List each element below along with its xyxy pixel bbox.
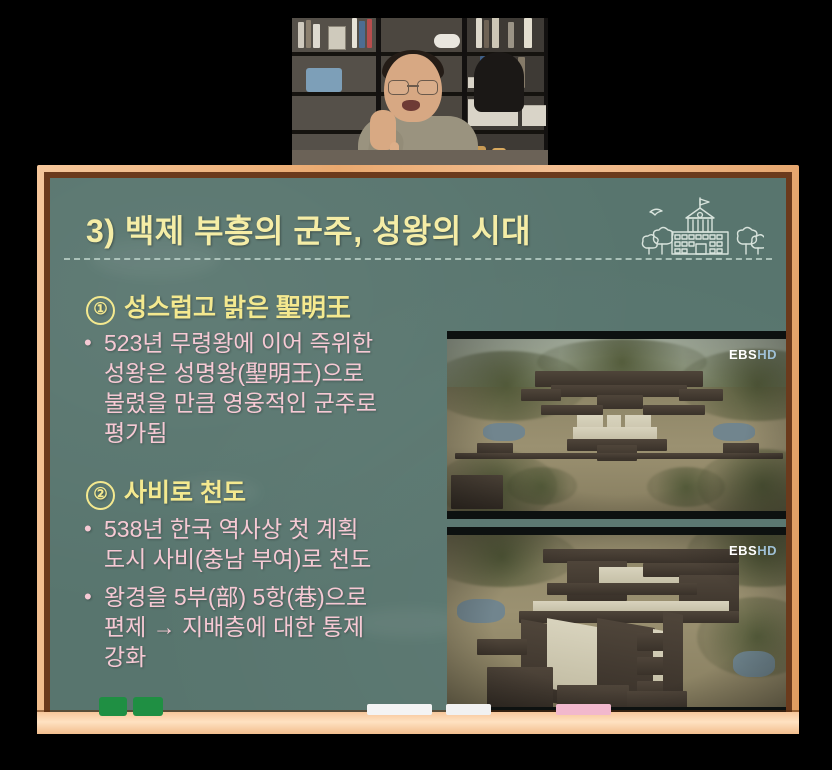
instructor-webcam — [292, 18, 548, 166]
book — [476, 18, 482, 48]
bullet-line: 불렸을 만큼 영웅적인 군주로 — [104, 388, 444, 418]
bullet-line: 편제 → 지배층에 대한 통제 — [104, 612, 444, 642]
section-heading-2: ②사비로 천도 — [86, 473, 246, 510]
bullet-line: 523년 무령왕에 이어 즉위한 — [104, 328, 444, 358]
book — [508, 22, 514, 48]
section-bullets-2: • 538년 한국 역사상 첫 계획 도시 사비(충남 부여)로 천도 • 왕경… — [84, 514, 444, 674]
ebs-hd-text: HD — [757, 347, 777, 362]
section-marker-1: ① — [86, 296, 115, 325]
chalkboard: 3) 백제 부흥의 군주, 성왕의 시대 — [50, 178, 786, 716]
bullet-item: • 왕경을 5부(部) 5항(巷)으로 편제 → 지배층에 대한 통제 강화 — [84, 582, 444, 672]
paper-stack — [522, 105, 546, 126]
glasses-icon — [388, 80, 438, 93]
blue-box — [306, 68, 342, 92]
bullet-line: 왕경을 5부(部) 5항(巷)으로 — [104, 582, 444, 612]
book — [492, 18, 499, 48]
book — [367, 19, 372, 48]
office-chair — [474, 52, 524, 112]
bullet-line: 도시 사비(충남 부여)로 천도 — [104, 544, 444, 574]
bullet-line: 성왕은 성명왕(聖明王)으로 — [104, 358, 444, 388]
bullet-text: 523년 무령왕에 이어 즉위한 성왕은 성명왕(聖明王)으로 불렸을 만큼 영… — [104, 328, 444, 448]
bullet-marker: • — [84, 514, 104, 574]
ebs-brand-text: EBS — [729, 347, 757, 362]
section-bullets-1: • 523년 무령왕에 이어 즉위한 성왕은 성명왕(聖明王)으로 불렸을 만큼… — [84, 328, 444, 450]
bullet-marker: • — [84, 582, 104, 672]
bullet-item: • 523년 무령왕에 이어 즉위한 성왕은 성명왕(聖明王)으로 불렸을 만큼… — [84, 328, 444, 448]
bullet-line: 강화 — [104, 642, 444, 672]
book — [484, 20, 489, 48]
shelf-post — [544, 18, 548, 166]
screen-root: 3) 백제 부흥의 군주, 성왕의 시대 — [0, 0, 832, 770]
shelf-object — [434, 34, 460, 48]
section-marker-2: ② — [86, 481, 115, 510]
school-building-icon — [636, 196, 764, 260]
book — [524, 18, 532, 48]
ebs-hd-text: HD — [757, 543, 777, 558]
section-heading-text-2: 사비로 천도 — [124, 479, 246, 507]
chalkboard-frame: 3) 백제 부흥의 군주, 성왕의 시대 — [37, 165, 799, 729]
instructor-mouth — [402, 100, 420, 111]
book — [313, 24, 320, 48]
webcam-video-frame — [292, 18, 548, 166]
video-still-top: EBSHD — [447, 331, 786, 519]
book — [298, 22, 304, 48]
book — [306, 20, 311, 48]
slide-title: 3) 백제 부흥의 군주, 성왕의 시대 — [86, 206, 531, 252]
ebs-watermark: EBSHD — [729, 347, 777, 362]
chalkboard-frame-inner: 3) 백제 부흥의 군주, 성왕의 시대 — [44, 172, 792, 722]
chalk-stick-white[interactable] — [367, 704, 432, 715]
picture-frame — [328, 26, 346, 50]
bullet-item: • 538년 한국 역사상 첫 계획 도시 사비(충남 부여)로 천도 — [84, 514, 444, 574]
bullet-line: 538년 한국 역사상 첫 계획 — [104, 514, 444, 544]
ebs-watermark: EBSHD — [729, 543, 777, 558]
section-heading-text-1: 성스럽고 밝은 聖明王 — [124, 294, 351, 322]
bullet-line: 평가됨 — [104, 418, 444, 448]
bullet-text: 538년 한국 역사상 첫 계획 도시 사비(충남 부여)로 천도 — [104, 514, 444, 574]
bullet-marker: • — [84, 328, 104, 448]
book — [359, 21, 365, 48]
instructor-hand — [370, 110, 396, 150]
chalkboard-eraser[interactable] — [133, 697, 163, 716]
desk-surface — [292, 150, 548, 166]
chalkboard-eraser[interactable] — [99, 697, 127, 716]
section-heading-1: ①성스럽고 밝은 聖明王 — [86, 288, 351, 325]
chalk-stick-white[interactable] — [446, 704, 491, 715]
video-still-bottom: EBSHD — [447, 527, 786, 715]
book — [352, 18, 357, 48]
bullet-text: 왕경을 5부(部) 5항(巷)으로 편제 → 지배층에 대한 통제 강화 — [104, 582, 444, 672]
chalk-stick-pink[interactable] — [556, 704, 611, 715]
ebs-brand-text: EBS — [729, 543, 757, 558]
